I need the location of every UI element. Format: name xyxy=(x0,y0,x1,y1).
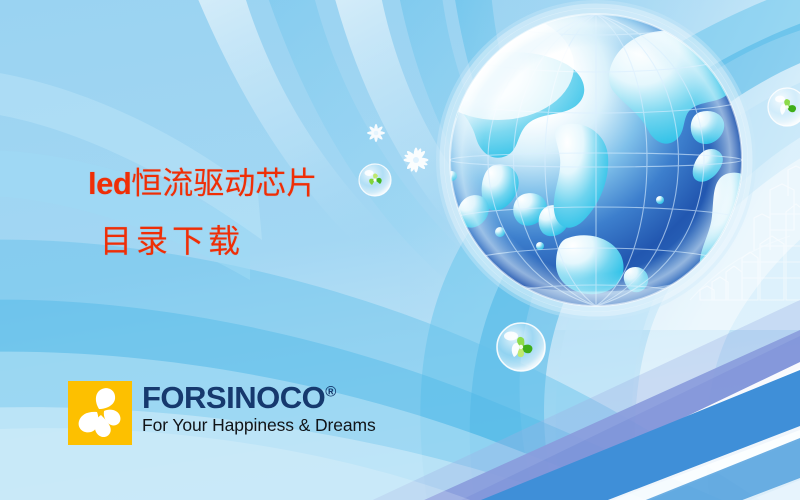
banner-canvas: led恒流驱动芯片 目录下载 FORSINOCO® For xyxy=(0,0,800,500)
logo-wordmark: FORSINOCO® For Your Happiness & Dreams xyxy=(142,381,376,435)
logo-tagline: For Your Happiness & Dreams xyxy=(142,416,376,435)
bubble-pinwheel-large xyxy=(497,323,545,371)
headline: led恒流驱动芯片 目录下载 xyxy=(88,168,317,257)
headline-latin: led xyxy=(88,166,131,201)
forsinoco-pinwheel-mark xyxy=(68,381,132,445)
bubble-pinwheel-corner xyxy=(768,88,800,126)
registered-trademark-icon: ® xyxy=(325,384,336,401)
bubble-pinwheel-small xyxy=(359,164,391,196)
logo-company-name: FORSINOCO® xyxy=(142,382,376,415)
headline-line-2: 目录下载 xyxy=(100,225,317,257)
pinwheel-icon xyxy=(68,381,132,445)
logo-company-name-text: FORSINOCO xyxy=(142,380,325,415)
company-logo: FORSINOCO® For Your Happiness & Dreams xyxy=(68,381,376,445)
white-flower-large xyxy=(404,148,429,173)
headline-cjk: 恒流驱动芯片 xyxy=(131,166,317,201)
white-flower-small xyxy=(367,124,385,142)
headline-line-1: led恒流驱动芯片 xyxy=(88,168,317,199)
